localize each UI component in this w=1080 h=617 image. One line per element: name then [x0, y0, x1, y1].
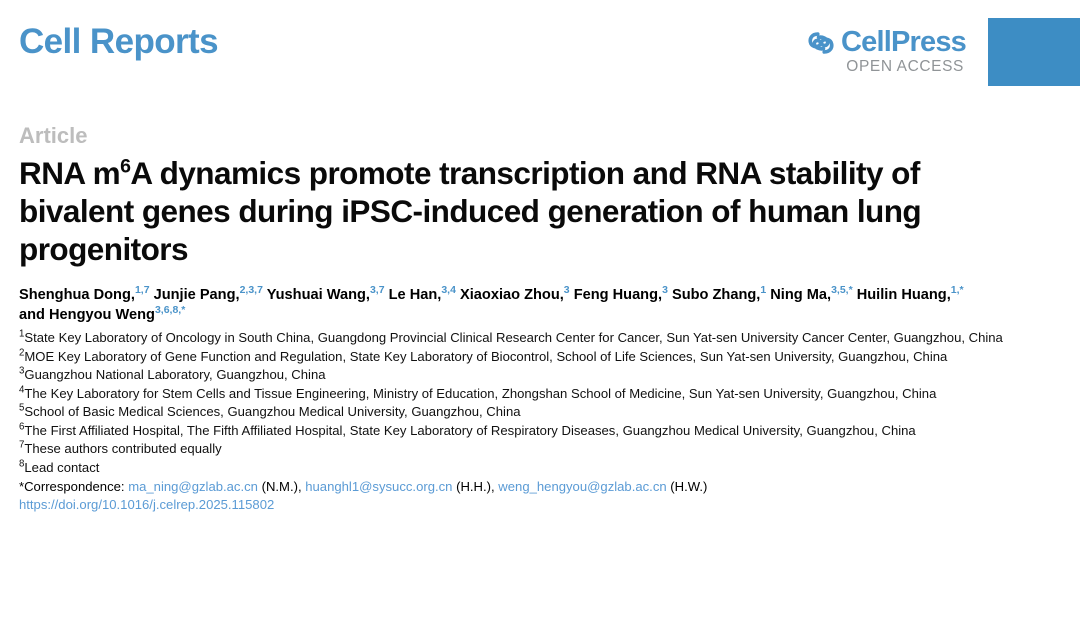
footnote: 7These authors contributed equally: [19, 440, 1019, 459]
correspondence-label: *Correspondence:: [19, 479, 128, 494]
footnote: 8Lead contact: [19, 459, 1019, 478]
author-affiliation-marker: 1,*: [951, 284, 964, 296]
correspondence-line: *Correspondence: ma_ning@gzlab.ac.cn (N.…: [19, 478, 1019, 497]
affiliation-text: MOE Key Laboratory of Gene Function and …: [24, 349, 947, 364]
affiliation-text: State Key Laboratory of Oncology in Sout…: [24, 330, 1002, 345]
affiliation-text: Guangzhou National Laboratory, Guangzhou…: [24, 367, 325, 382]
title-superscript: 6: [120, 156, 130, 178]
cellpress-logo: CellPress: [706, 28, 966, 57]
journal-masthead: Cell Reports CellPress OPEN ACCESS: [0, 0, 1080, 108]
affiliation-item: 4The Key Laboratory for Stem Cells and T…: [19, 385, 1019, 404]
affiliation-text: The First Affiliated Hospital, The Fifth…: [24, 423, 915, 438]
doi-link[interactable]: https://doi.org/10.1016/j.celrep.2025.11…: [19, 496, 1019, 515]
affiliation-item: 6The First Affiliated Hospital, The Fift…: [19, 422, 1019, 441]
author-affiliation-marker: 1,7: [135, 284, 150, 296]
author-affiliation-marker: 1: [760, 284, 766, 296]
page-title: RNA m6A dynamics promote transcription a…: [19, 154, 1019, 268]
correspondence-initials: (H.W.): [667, 479, 708, 494]
article-header: Article RNA m6A dynamics promote transcr…: [19, 124, 1019, 515]
author-affiliation-marker: 3,5,*: [831, 284, 853, 296]
affiliation-item: 5School of Basic Medical Sciences, Guang…: [19, 403, 1019, 422]
publisher-brand-block: CellPress OPEN ACCESS: [706, 28, 966, 75]
title-segment: RNA m: [19, 155, 120, 191]
author-name: Subo Zhang,: [668, 287, 760, 303]
author-affiliation-marker: 2,3,7: [240, 284, 263, 296]
cellpress-wordmark: CellPress: [841, 28, 966, 57]
cellpress-knot-icon: [808, 30, 834, 56]
author-name: Junjie Pang,: [150, 287, 240, 303]
author-list: Shenghua Dong,1,7 Junjie Pang,2,3,7 Yush…: [19, 285, 979, 326]
journal-title: Cell Reports: [19, 24, 218, 59]
correspondence-initials: (H.H.),: [452, 479, 498, 494]
author-name: Yushuai Wang,: [263, 287, 370, 303]
author-affiliation-marker: 3,4: [441, 284, 456, 296]
author-name: Feng Huang,: [570, 287, 662, 303]
affiliation-list: 1State Key Laboratory of Oncology in Sou…: [19, 329, 1019, 478]
author-name: Shenghua Dong,: [19, 287, 135, 303]
author-name: and Hengyou Weng: [19, 307, 155, 323]
author-name: Xiaoxiao Zhou,: [456, 287, 564, 303]
author-affiliation-marker: 3,6,8,*: [155, 304, 185, 316]
author-name: Ning Ma,: [770, 287, 831, 303]
corner-color-block: [988, 18, 1080, 86]
open-access-label: OPEN ACCESS: [706, 59, 966, 75]
affiliation-text: Lead contact: [24, 460, 99, 475]
correspondence-initials: (N.M.),: [258, 479, 305, 494]
affiliation-item: 2MOE Key Laboratory of Gene Function and…: [19, 348, 1019, 367]
affiliation-text: These authors contributed equally: [24, 441, 221, 456]
affiliation-item: 3Guangzhou National Laboratory, Guangzho…: [19, 366, 1019, 385]
affiliation-text: School of Basic Medical Sciences, Guangz…: [24, 404, 520, 419]
author-name: Huilin Huang,: [853, 287, 951, 303]
correspondence-email[interactable]: weng_hengyou@gzlab.ac.cn: [498, 479, 666, 494]
title-segment: A dynamics promote transcription and RNA: [130, 155, 760, 191]
correspondence-email[interactable]: huanghl1@sysucc.org.cn: [305, 479, 452, 494]
affiliation-item: 1State Key Laboratory of Oncology in Sou…: [19, 329, 1019, 348]
article-type-label: Article: [19, 124, 1019, 148]
author-affiliation-marker: 3,7: [370, 284, 385, 296]
author-name: Le Han,: [385, 287, 442, 303]
affiliation-text: The Key Laboratory for Stem Cells and Ti…: [24, 386, 936, 401]
correspondence-email[interactable]: ma_ning@gzlab.ac.cn: [128, 479, 258, 494]
